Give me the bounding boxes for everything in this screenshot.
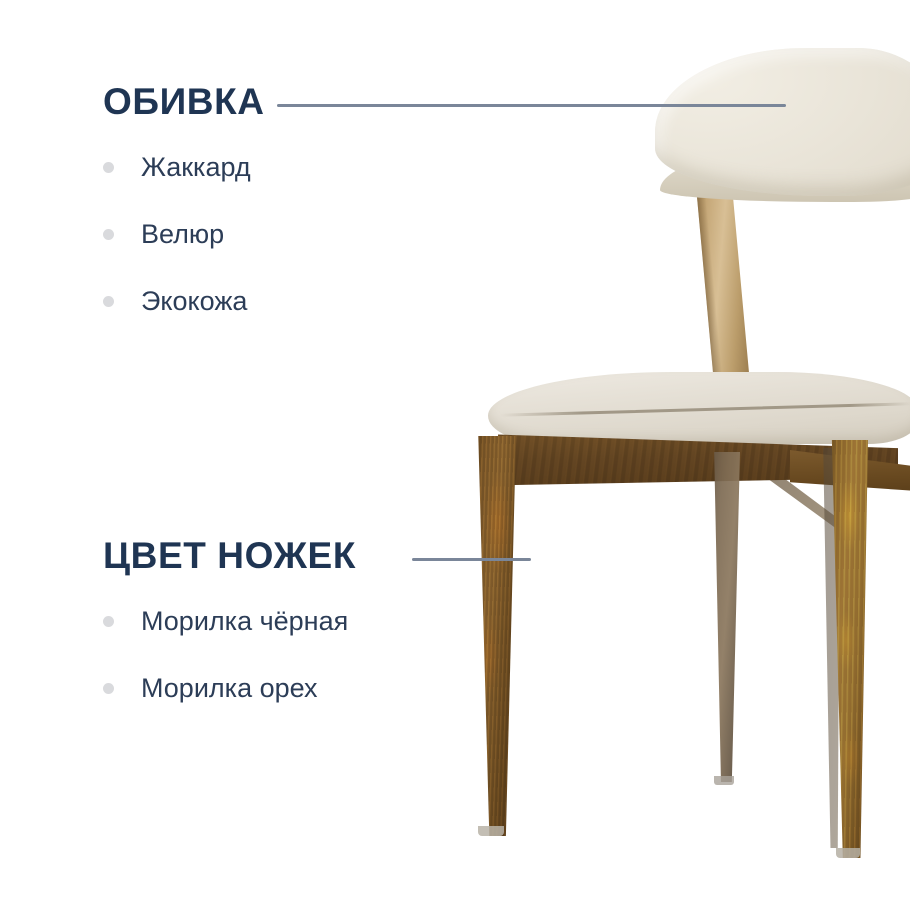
chair-front-left-leg: [470, 436, 516, 836]
bullet-dot-icon: [103, 683, 114, 694]
option-list-upholstery: Жаккард Велюр Экокожа: [103, 146, 265, 323]
chair-foot-back-left: [714, 776, 734, 785]
list-item[interactable]: Морилка чёрная: [103, 600, 356, 643]
chair-foot-front-right: [836, 848, 860, 858]
infographic-canvas: ОБИВКА Жаккард Велюр Экокожа ЦВЕТ НОЖЕК …: [0, 0, 910, 910]
option-label: Жаккард: [141, 152, 251, 183]
annotation-group-leg-color: ЦВЕТ НОЖЕК Морилка чёрная Морилка орех: [103, 537, 356, 734]
leader-line-leg-color: [412, 558, 531, 561]
wood-grain-texture: [470, 436, 516, 836]
chair-back-left-leg: [706, 452, 740, 782]
option-label: Велюр: [141, 219, 224, 250]
option-label: Морилка орех: [141, 673, 318, 704]
bullet-dot-icon: [103, 296, 114, 307]
list-item[interactable]: Экокожа: [103, 280, 265, 323]
annotation-group-upholstery: ОБИВКА Жаккард Велюр Экокожа: [103, 83, 265, 347]
list-item[interactable]: Велюр: [103, 213, 265, 256]
bullet-dot-icon: [103, 229, 114, 240]
section-title-leg-color: ЦВЕТ НОЖЕК: [103, 537, 356, 574]
bullet-dot-icon: [103, 162, 114, 173]
list-item[interactable]: Жаккард: [103, 146, 265, 189]
list-item[interactable]: Морилка орех: [103, 667, 356, 710]
option-label: Экокожа: [141, 286, 247, 317]
chair-backrest-cushion: [655, 48, 910, 196]
chair-foot-front-left: [478, 826, 504, 836]
bullet-dot-icon: [103, 616, 114, 627]
option-list-leg-color: Морилка чёрная Морилка орех: [103, 600, 356, 710]
leader-line-upholstery: [277, 104, 786, 107]
option-label: Морилка чёрная: [141, 606, 348, 637]
section-title-upholstery: ОБИВКА: [103, 83, 265, 120]
